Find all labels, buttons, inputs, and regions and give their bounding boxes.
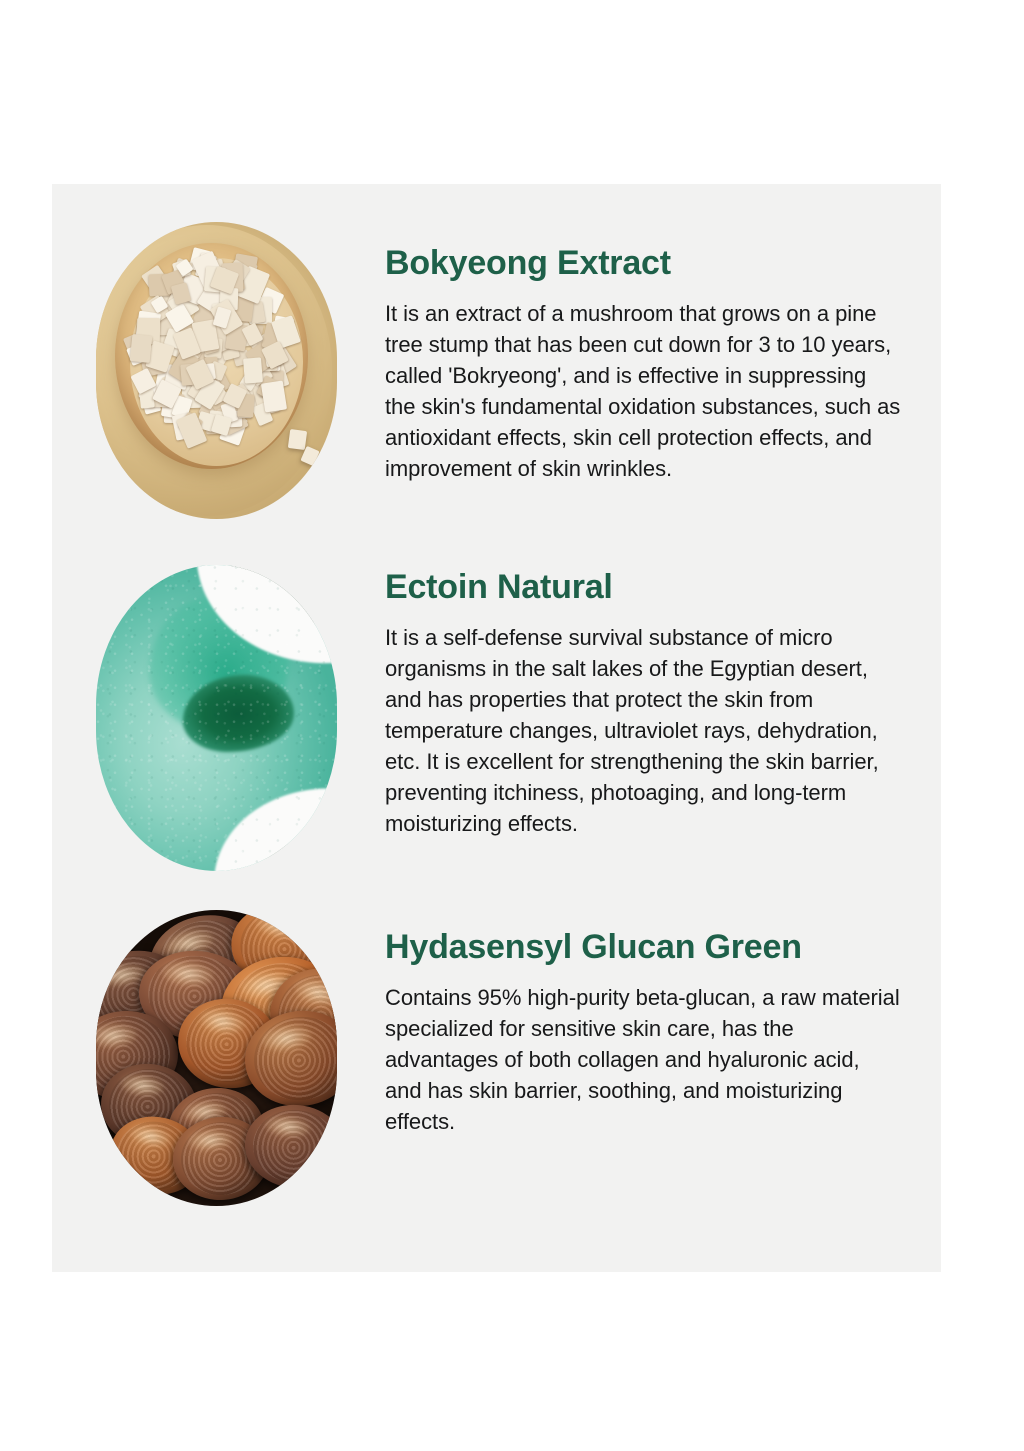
ingredient-item-hydasensyl-glucan-green: Hydasensyl Glucan Green Contains 95% hig… <box>52 900 941 1212</box>
ingredients-panel: Bokyeong Extract It is an extract of a m… <box>52 184 941 1272</box>
ingredient-copy: Bokyeong Extract It is an extract of a m… <box>385 244 901 484</box>
ingredient-description: Contains 95% high-purity beta-glucan, a … <box>385 982 901 1137</box>
ingredient-copy: Ectoin Natural It is a self-defense surv… <box>385 568 901 839</box>
ingredient-title: Bokyeong Extract <box>385 244 901 282</box>
ingredient-description: It is a self-defense survival substance … <box>385 622 901 839</box>
turquoise-salt-lake-aerial-photo <box>96 565 337 871</box>
ingredient-title: Hydasensyl Glucan Green <box>385 928 901 966</box>
ingredient-description: It is an extract of a mushroom that grow… <box>385 298 901 484</box>
ingredient-item-bokyeong-extract: Bokyeong Extract It is an extract of a m… <box>52 222 941 534</box>
ingredient-title: Ectoin Natural <box>385 568 901 606</box>
ingredient-item-ectoin-natural: Ectoin Natural It is a self-defense surv… <box>52 555 941 875</box>
ingredient-copy: Hydasensyl Glucan Green Contains 95% hig… <box>385 928 901 1137</box>
ingredient-information-page: Bokyeong Extract It is an extract of a m… <box>0 0 1024 1451</box>
poria-cubes-in-wooden-bowl-photo <box>96 222 337 519</box>
reishi-mushrooms-photo <box>96 910 337 1206</box>
